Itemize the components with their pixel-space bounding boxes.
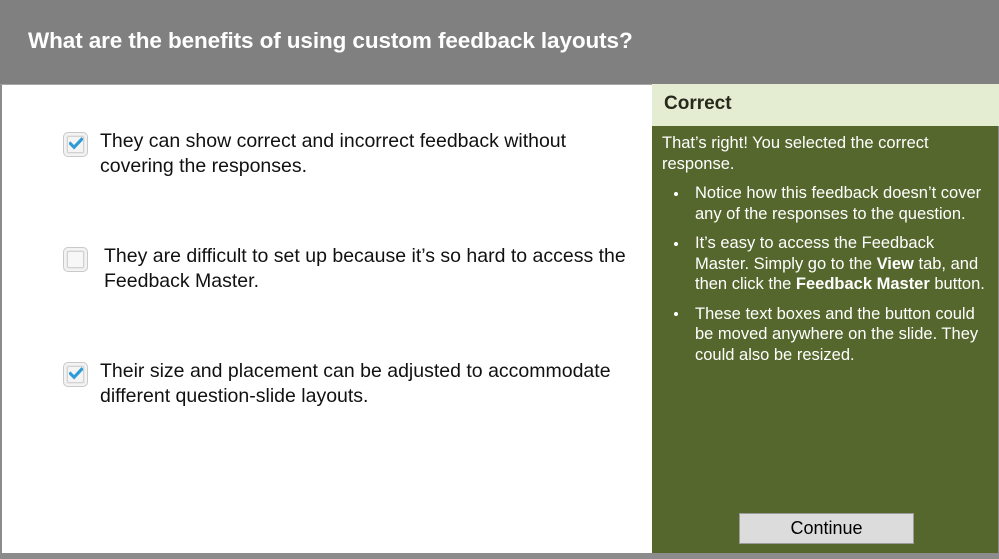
feedback-intro-text: That’s right! You selected the correct r… [662,133,989,175]
answer-option-1-label: They can show correct and incorrect feed… [100,129,650,178]
slide-bottom-edge [0,555,999,559]
feedback-panel: Correct That’s right! You selected the c… [652,84,999,555]
feedback-bullet-item: It’s easy to access the Feedback Master.… [662,233,989,295]
feedback-bullet-text: It’s easy to access the Feedback Master.… [695,234,985,293]
answers-panel: They can show correct and incorrect feed… [0,84,652,555]
feedback-bullet-text: These text boxes and the button could be… [695,305,978,364]
checkbox-icon-3[interactable] [63,362,88,387]
bullet-dot-icon [674,242,678,246]
quiz-slide: What are the benefits of using custom fe… [0,0,999,559]
feedback-bullet-item: Notice how this feedback doesn’t cover a… [662,183,989,224]
checkbox-inner [67,251,84,268]
checkmark-icon [69,367,83,381]
feedback-bullet-list: Notice how this feedback doesn’t cover a… [662,183,989,365]
feedback-header: Correct [652,84,999,126]
checkbox-icon-2[interactable] [63,247,88,272]
answer-option-3[interactable]: Their size and placement can be adjusted… [2,359,650,408]
feedback-status-title: Correct [664,93,732,115]
answer-option-2[interactable]: They are difficult to set up because it’… [2,244,650,293]
page-title: What are the benefits of using custom fe… [28,26,958,56]
feedback-body: That’s right! You selected the correct r… [652,126,999,374]
title-band: What are the benefits of using custom fe… [0,0,999,84]
bullet-dot-icon [674,312,678,316]
feedback-bullet-item: These text boxes and the button could be… [662,304,989,366]
checkmark-icon [69,137,83,151]
answer-option-2-label: They are difficult to set up because it’… [104,244,650,293]
feedback-bullet-text: Notice how this feedback doesn’t cover a… [695,184,981,223]
answer-option-1[interactable]: They can show correct and incorrect feed… [2,129,650,178]
bullet-dot-icon [674,192,678,196]
checkbox-icon-1[interactable] [63,132,88,157]
continue-button[interactable]: Continue [739,513,914,544]
answer-option-3-label: Their size and placement can be adjusted… [100,359,650,408]
